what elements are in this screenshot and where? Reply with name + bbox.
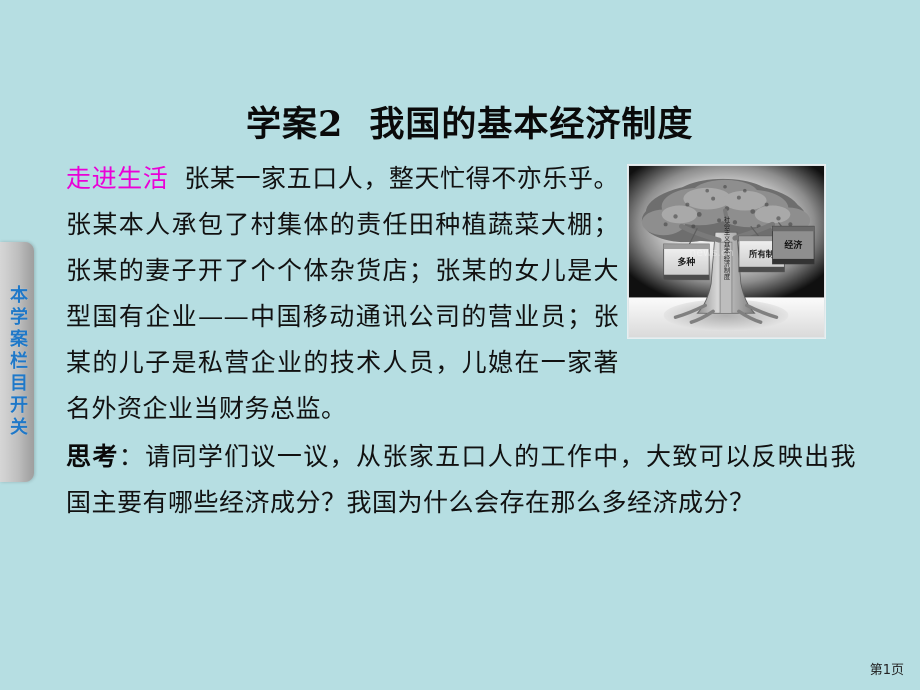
question-label: 思考 [66, 442, 119, 471]
page-title-main: 我国的基本经济制度 [369, 104, 693, 145]
svg-text:经济: 经济 [784, 239, 803, 251]
economy-tree-figure: 社会主义基本经济制度 多种 所有制 [627, 164, 826, 339]
side-tab-label: 本学案栏目开关 [8, 285, 26, 439]
page-title: 学案2我国的基本经济制度 [246, 96, 693, 147]
svg-text:所有制: 所有制 [749, 249, 774, 259]
page-number: 第1页 [870, 659, 904, 678]
slide-body: 社会主义基本经济制度 多种 所有制 [66, 156, 856, 526]
intro-lead-label: 走进生活 [66, 164, 168, 193]
figure-watermark: news.cn [689, 246, 734, 259]
page-title-prefix: 学案2 [246, 104, 343, 145]
economy-tree-illustration: 社会主义基本经济制度 多种 所有制 [628, 165, 825, 338]
side-tab-lesson-toggle[interactable]: 本学案栏目开关 [0, 242, 34, 482]
slide-canvas: 本学案栏目开关 学案2我国的基本经济制度 [0, 0, 920, 690]
sign-right: 经济 [773, 222, 815, 264]
question-paragraph: 思考：请同学们议一议，从张家五口人的工作中，大致可以反映出我国主要有哪些经济成分… [66, 434, 856, 526]
question-paragraph-text: ：请同学们议一议，从张家五口人的工作中，大致可以反映出我国主要有哪些经济成分？我… [66, 442, 856, 517]
intro-paragraph-text: 张某一家五口人，整天忙得不亦乐乎。张某本人承包了村集体的责任田种植蔬菜大棚；张某… [66, 164, 619, 423]
